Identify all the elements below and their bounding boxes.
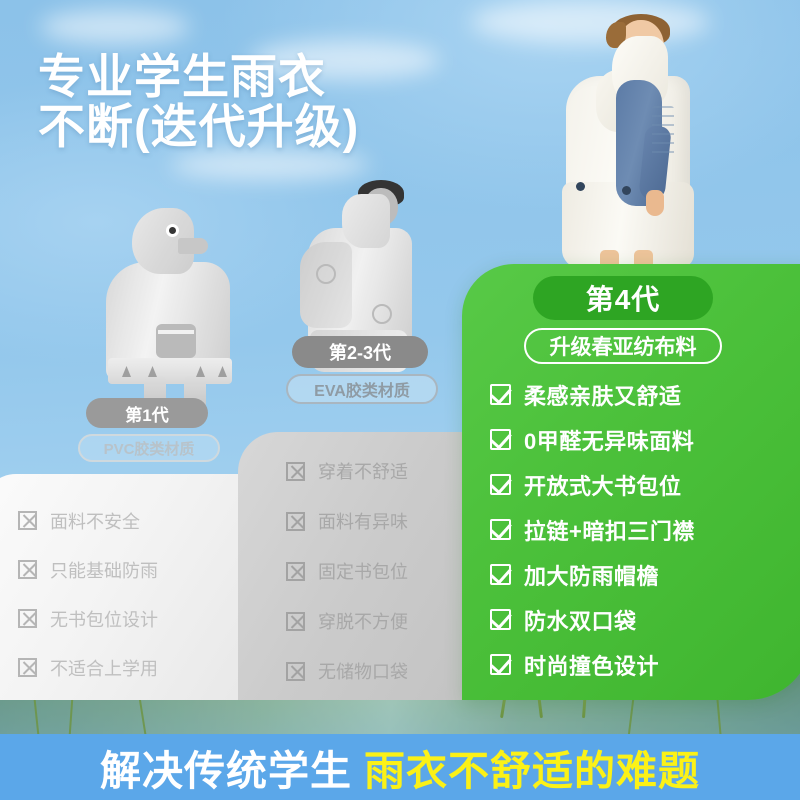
gen1-badge: 第1代 [86, 398, 208, 428]
gen1-hood-beak [178, 238, 208, 254]
list-item-label: 0甲醛无异味面料 [524, 424, 694, 456]
list-item: 0甲醛无异味面料 [490, 417, 695, 462]
list-item-label: 穿脱不方便 [318, 608, 408, 634]
gen2-badge: 第2-3代 [292, 336, 428, 368]
box-x-icon [18, 560, 37, 579]
banner-text-highlight: 雨衣不舒适的难题 [364, 737, 700, 797]
box-x-icon [18, 609, 37, 628]
cloud-shape [170, 150, 370, 180]
box-check-icon [490, 384, 511, 405]
box-check-icon [490, 564, 511, 585]
banner-text-primary: 解决传统学生 [100, 737, 352, 797]
list-item-label: 穿着不舒适 [318, 458, 408, 484]
hero-pocket-snap [622, 186, 631, 195]
poster-headline: 专业学生雨衣 不断(迭代升级) [38, 52, 359, 152]
list-item: 加大防雨帽檐 [490, 552, 695, 597]
list-item-label: 无书包位设计 [50, 606, 158, 632]
box-check-icon [490, 429, 511, 450]
list-item-label: 面料不安全 [50, 508, 140, 534]
hero-chest-print [652, 106, 674, 158]
gen1-hood-eye [166, 224, 179, 237]
box-x-icon [286, 512, 305, 531]
list-item: 只能基础防雨 [18, 545, 158, 594]
box-check-icon [490, 519, 511, 540]
box-x-icon [18, 658, 37, 677]
gen1-drawback-list: 面料不安全 只能基础防雨 无书包位设计 不适合上学用 [18, 496, 158, 692]
gen2-button-print [372, 304, 392, 324]
list-item-label: 防水双口袋 [524, 604, 637, 636]
gen2-drawback-list: 穿着不舒适 面料有异味 固定书包位 穿脱不方便 无储物口袋 [286, 446, 408, 696]
gen4-material-badge: 升级春亚纺布料 [524, 328, 722, 364]
cloud-shape [40, 10, 190, 44]
gen2-backpack-bump [300, 242, 352, 328]
box-x-icon [286, 662, 305, 681]
list-item: 柔感亲肤又舒适 [490, 372, 695, 417]
bottom-banner: 解决传统学生 雨衣不舒适的难题 [0, 734, 800, 800]
list-item: 面料不安全 [18, 496, 158, 545]
list-item-label: 柔感亲肤又舒适 [524, 379, 682, 411]
gen1-material-badge: PVC胶类材质 [78, 434, 220, 462]
list-item-label: 固定书包位 [318, 558, 408, 584]
gen1-raincoat-photo [100, 208, 268, 408]
hero-pocket-snap [576, 182, 585, 191]
hero-hand [646, 190, 664, 216]
list-item: 拉链+暗扣三门襟 [490, 507, 695, 552]
box-x-icon [286, 612, 305, 631]
list-item: 时尚撞色设计 [490, 642, 695, 687]
list-item-label: 开放式大书包位 [524, 469, 682, 501]
headline-line-1: 专业学生雨衣 [38, 52, 359, 102]
gen2-button-print [316, 264, 336, 284]
gen4-hero-photo [560, 14, 786, 296]
list-item: 不适合上学用 [18, 643, 158, 692]
list-item-label: 只能基础防雨 [50, 557, 158, 583]
list-item: 开放式大书包位 [490, 462, 695, 507]
list-item: 穿脱不方便 [286, 596, 408, 646]
list-item-label: 不适合上学用 [50, 655, 158, 681]
gen4-badge: 第4代 [533, 276, 713, 320]
list-item-label: 时尚撞色设计 [524, 649, 659, 681]
gen1-bag-stripe [158, 330, 194, 334]
list-item-label: 加大防雨帽檐 [524, 559, 659, 591]
list-item: 固定书包位 [286, 546, 408, 596]
list-item: 穿着不舒适 [286, 446, 408, 496]
box-check-icon [490, 609, 511, 630]
list-item: 防水双口袋 [490, 597, 695, 642]
product-poster: 专业学生雨衣 不断(迭代升级) [0, 0, 800, 800]
list-item: 面料有异味 [286, 496, 408, 546]
list-item-label: 无储物口袋 [318, 658, 408, 684]
gen4-feature-list: 柔感亲肤又舒适 0甲醛无异味面料 开放式大书包位 拉链+暗扣三门襟 加大防雨帽檐… [490, 372, 695, 687]
list-item: 无储物口袋 [286, 646, 408, 696]
gen2-material-badge: EVA胶类材质 [286, 374, 438, 404]
box-check-icon [490, 474, 511, 495]
list-item-label: 面料有异味 [318, 508, 408, 534]
box-x-icon [286, 462, 305, 481]
box-x-icon [18, 511, 37, 530]
box-x-icon [286, 562, 305, 581]
list-item-label: 拉链+暗扣三门襟 [524, 514, 695, 546]
box-check-icon [490, 654, 511, 675]
headline-line-2: 不断(迭代升级) [38, 102, 359, 152]
list-item: 无书包位设计 [18, 594, 158, 643]
gen2-hood [342, 194, 390, 248]
